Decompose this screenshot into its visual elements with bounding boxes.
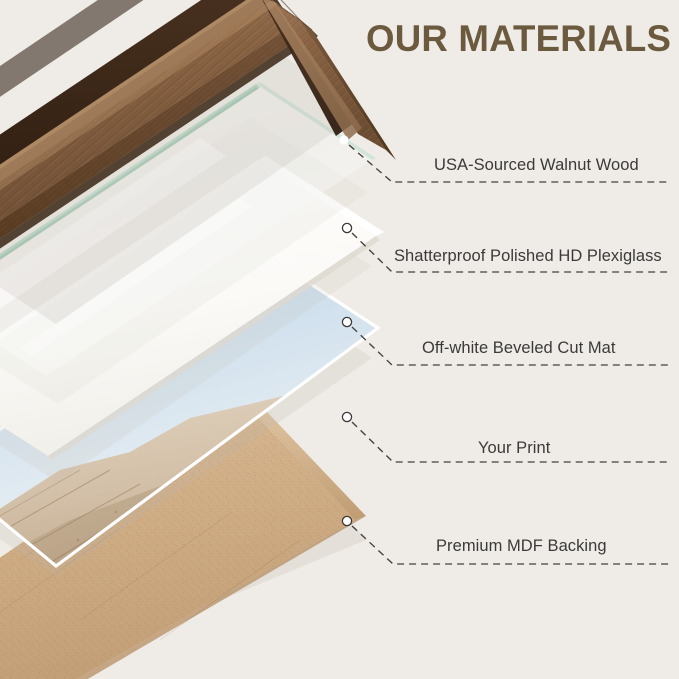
callout-label-plexiglass: Shatterproof Polished HD Plexiglass — [394, 248, 662, 265]
marker-mat — [342, 317, 351, 326]
marker-plexiglass — [342, 223, 351, 232]
marker-mdf-backing — [342, 516, 351, 525]
page-title: OUR MATERIALS — [366, 20, 663, 57]
callout-label-print: Your Print — [478, 440, 550, 457]
callout-label-mat: Off-white Beveled Cut Mat — [422, 340, 616, 357]
marker-print — [342, 412, 351, 421]
callout-label-walnut-wood: USA-Sourced Walnut Wood — [434, 157, 639, 174]
callout-label-mdf-backing: Premium MDF Backing — [436, 538, 607, 555]
marker-walnut-wood — [339, 135, 348, 144]
product-infographic: OUR MATERIALS USA-Sourced Walnut Wood Sh… — [0, 0, 679, 679]
